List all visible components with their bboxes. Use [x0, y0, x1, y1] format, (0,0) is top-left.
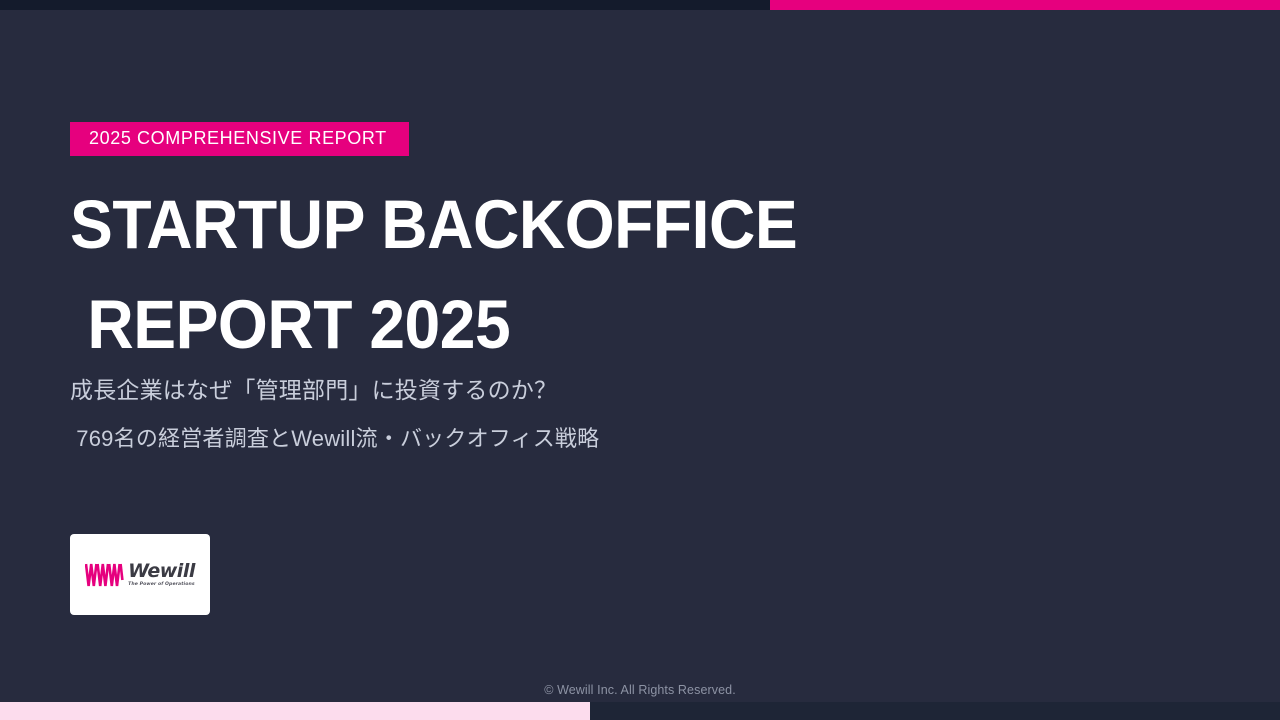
wewill-logo: Wewill The Power of Operations — [85, 562, 195, 588]
cover-subtitle-secondary: 769名の経営者調査とWewill流・バックオフィス戦略 — [70, 425, 599, 454]
top-accent-bar-left-segment — [0, 0, 770, 10]
top-accent-bar-right-segment — [770, 0, 1280, 10]
wewill-logo-card: Wewill The Power of Operations — [70, 534, 210, 615]
report-eyebrow-badge: 2025 COMPREHENSIVE REPORT — [70, 122, 409, 156]
bottom-accent-bar-right-segment — [590, 702, 1280, 720]
cover-slide: 2025 COMPREHENSIVE REPORT STARTUP BACKOF… — [0, 10, 1280, 702]
page-title-line-1: STARTUP BACKOFFICE — [70, 175, 1000, 275]
cover-title-block: STARTUP BACKOFFICE REPORT 2025 — [70, 175, 1070, 375]
page-title-line-2: REPORT 2025 — [70, 275, 1000, 375]
top-accent-bar — [0, 0, 1280, 10]
wewill-tagline: The Power of Operations — [128, 583, 195, 588]
copyright-footer: © Wewill Inc. All Rights Reserved. — [0, 683, 1280, 697]
wewill-wordmark-group: Wewill The Power of Operations — [128, 562, 195, 588]
wewill-wordmark: Wewill — [128, 562, 195, 581]
bottom-accent-bar-left-segment — [0, 702, 590, 720]
bottom-accent-bar — [0, 702, 1280, 720]
cover-subtitle-primary: 成長企業はなぜ「管理部門」に投資するのか？ — [70, 376, 557, 406]
wewill-zigzag-mark — [85, 562, 125, 588]
